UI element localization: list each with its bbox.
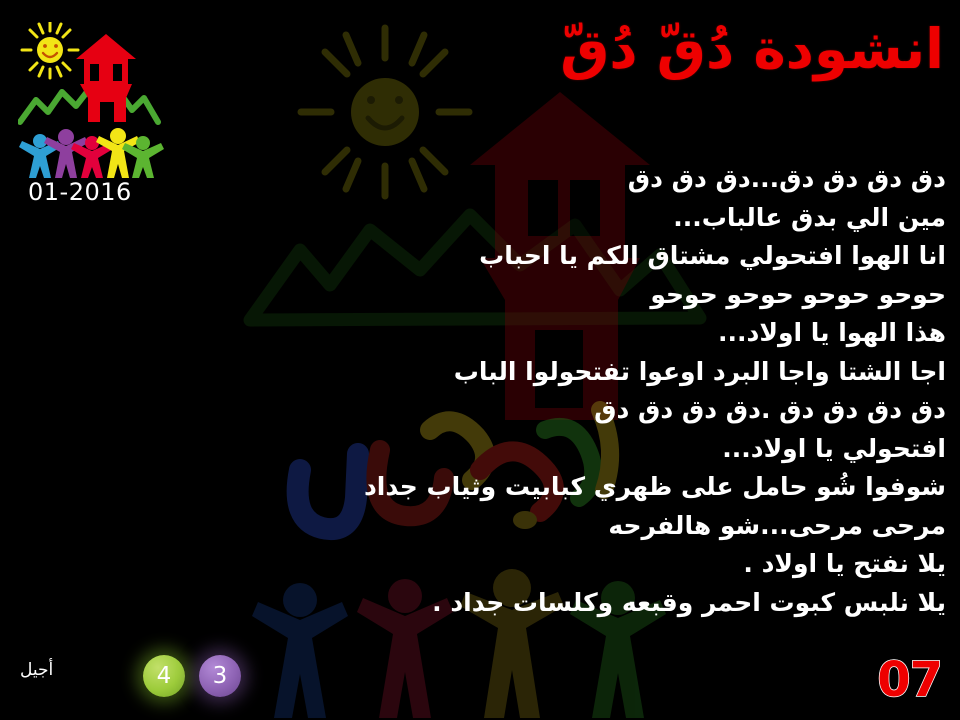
badge-group: 4 3 [143, 655, 241, 697]
presentation-slide: 01-2016 انشودة دُقّ دُقّ دق دق دق دق...د… [0, 0, 960, 720]
badge-4[interactable]: 4 [143, 655, 185, 697]
ajyal-logo [18, 22, 166, 180]
page-title: انشودة دُقّ دُقّ [560, 18, 944, 81]
lyric-line: مين الي بدق عالباب... [226, 199, 946, 238]
lyric-line: انا الهوا افتحولي مشتاق الكم يا احباب [226, 237, 946, 276]
lyric-line: يلا نفتح يا اولاد . [226, 545, 946, 584]
lyric-line: اجا الشتا واجا البرد اوعوا تفتحولوا البا… [226, 353, 946, 392]
children-icon [19, 128, 164, 178]
date-label: 01-2016 [28, 178, 132, 206]
lyric-line: دق دق دق دق .دق دق دق دق [226, 391, 946, 430]
page-number: 07 [877, 652, 942, 708]
lyrics-block: دق دق دق دق...دق دق دق مين الي بدق عالبا… [226, 160, 946, 622]
lyric-line: افتحولي يا اولاد... [226, 430, 946, 469]
house-icon [76, 34, 136, 122]
lyric-line: مرحى مرحى...شو هالفرحه [226, 507, 946, 546]
sun-icon [22, 22, 78, 78]
brand-word: أجيل [20, 660, 53, 680]
lyric-line: يلا نلبس كبوت احمر وقبعه وكلسات جداد . [226, 584, 946, 623]
lyric-line: دق دق دق دق...دق دق دق [226, 160, 946, 199]
lyric-line: شوفوا شُو حامل على ظهري كبابيت وثياب جدا… [226, 468, 946, 507]
lyric-line: حوحو حوحو حوحو حوحو [226, 276, 946, 315]
badge-3[interactable]: 3 [199, 655, 241, 697]
lyric-line: هذا الهوا يا اولاد... [226, 314, 946, 353]
